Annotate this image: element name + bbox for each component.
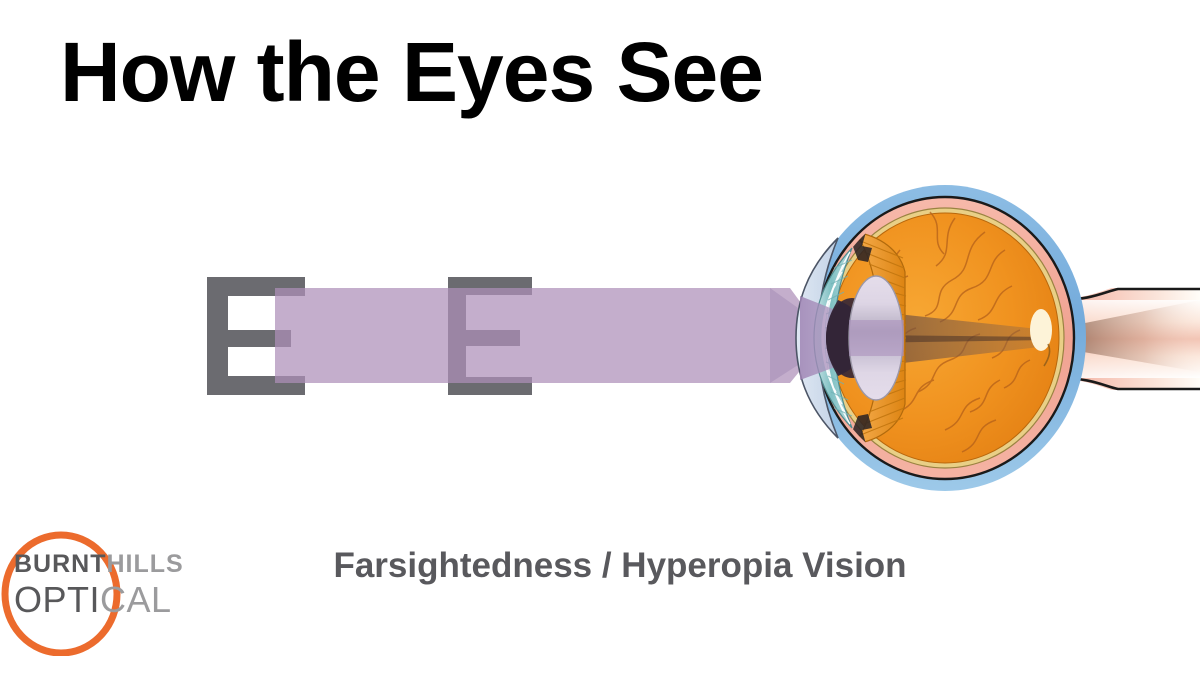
incoming-light-beam [275, 288, 812, 383]
logo-word-hills: HILLS [107, 550, 184, 578]
logo-word-burnt: BURNT [14, 550, 107, 578]
logo-line-optical: OPTICAL [14, 581, 224, 619]
logo-word-cal: CAL [100, 579, 172, 620]
logo-word-opti: OPTI [14, 579, 100, 620]
slide-canvas: How the Eyes See [0, 0, 1200, 675]
logo-line-burnt-hills: BURNTHILLS [14, 549, 224, 579]
brand-logo[interactable]: BURNTHILLS OPTICAL [0, 526, 215, 656]
